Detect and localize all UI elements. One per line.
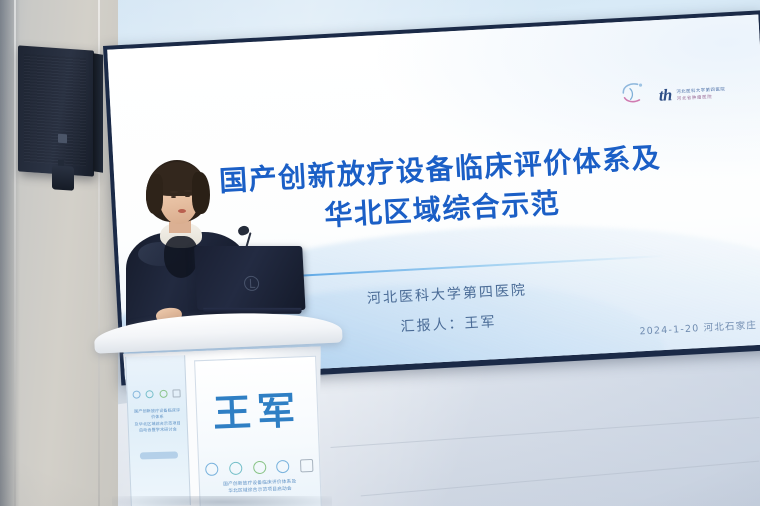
wall-shadow: [0, 0, 20, 506]
sponsor-logo-icon: [276, 460, 289, 473]
anniversary-mark-icon: [620, 79, 655, 106]
person-hair-right: [192, 172, 210, 214]
speaker-badge: [58, 134, 67, 144]
sponsor-logo-icon: [146, 390, 154, 398]
logo-cn-line-2: 河北省肿瘤医院: [677, 93, 726, 102]
sponsor-logo-icon: [205, 463, 218, 476]
laptop-brand-logo-icon: [244, 276, 260, 291]
logo-ordinal: th: [658, 86, 672, 103]
podium-side-panel: 国产创新放疗设备临床评价体系 及华北区域综合示范项目 启动会暨学术研讨会: [125, 355, 191, 506]
speaker-side: [93, 53, 103, 173]
podium-side-logo-row: [132, 389, 180, 398]
podium: 国产创新放疗设备临床评价体系 及华北区域综合示范项目 启动会暨学术研讨会 王军 …: [94, 306, 342, 506]
podium-side-accent-bar: [140, 451, 178, 459]
presentation-room-photo: th 河北医科大学第四医院 河北省肿瘤医院 国产创新放疗设备临床评价体系及 华北…: [0, 0, 760, 506]
speaker-grille-icon: [24, 54, 86, 166]
person-brow-right: [184, 190, 192, 192]
podium-nameplate: 王军: [196, 379, 318, 439]
sponsor-logo-icon: [229, 462, 242, 475]
speaker-bracket: [52, 165, 74, 191]
sponsor-logo-icon: [172, 389, 180, 397]
person-jacket-lapel: [164, 236, 198, 278]
podium-shadow: [112, 496, 332, 506]
person-brow-left: [170, 191, 178, 193]
wall-seam: [14, 0, 16, 506]
logo-chinese-text: 河北医科大学第四医院 河北省肿瘤医院: [676, 86, 726, 102]
podium-side-text-line-3: 启动会暨学术研讨会: [133, 426, 183, 434]
podium-sponsor-logo-row: [205, 459, 313, 476]
sponsor-logo-icon: [300, 459, 313, 472]
person-hair-left: [146, 174, 163, 214]
podium-front-text: 国产创新放疗设备临床评价体系及 华北区域综合示范项目启动会: [210, 477, 310, 495]
person-mouth: [178, 209, 186, 213]
sponsor-logo-icon: [159, 390, 167, 398]
podium-side-text: 国产创新放疗设备临床评价体系 及华北区域综合示范项目 启动会暨学术研讨会: [132, 407, 183, 434]
sponsor-logo-icon: [132, 390, 140, 398]
sponsor-logo-icon: [253, 461, 266, 474]
podium-front-panel: 王军 国产创新放疗设备临床评价体系及 华北区域综合示范项目启动会: [194, 356, 322, 506]
wall-speaker: [18, 48, 94, 174]
